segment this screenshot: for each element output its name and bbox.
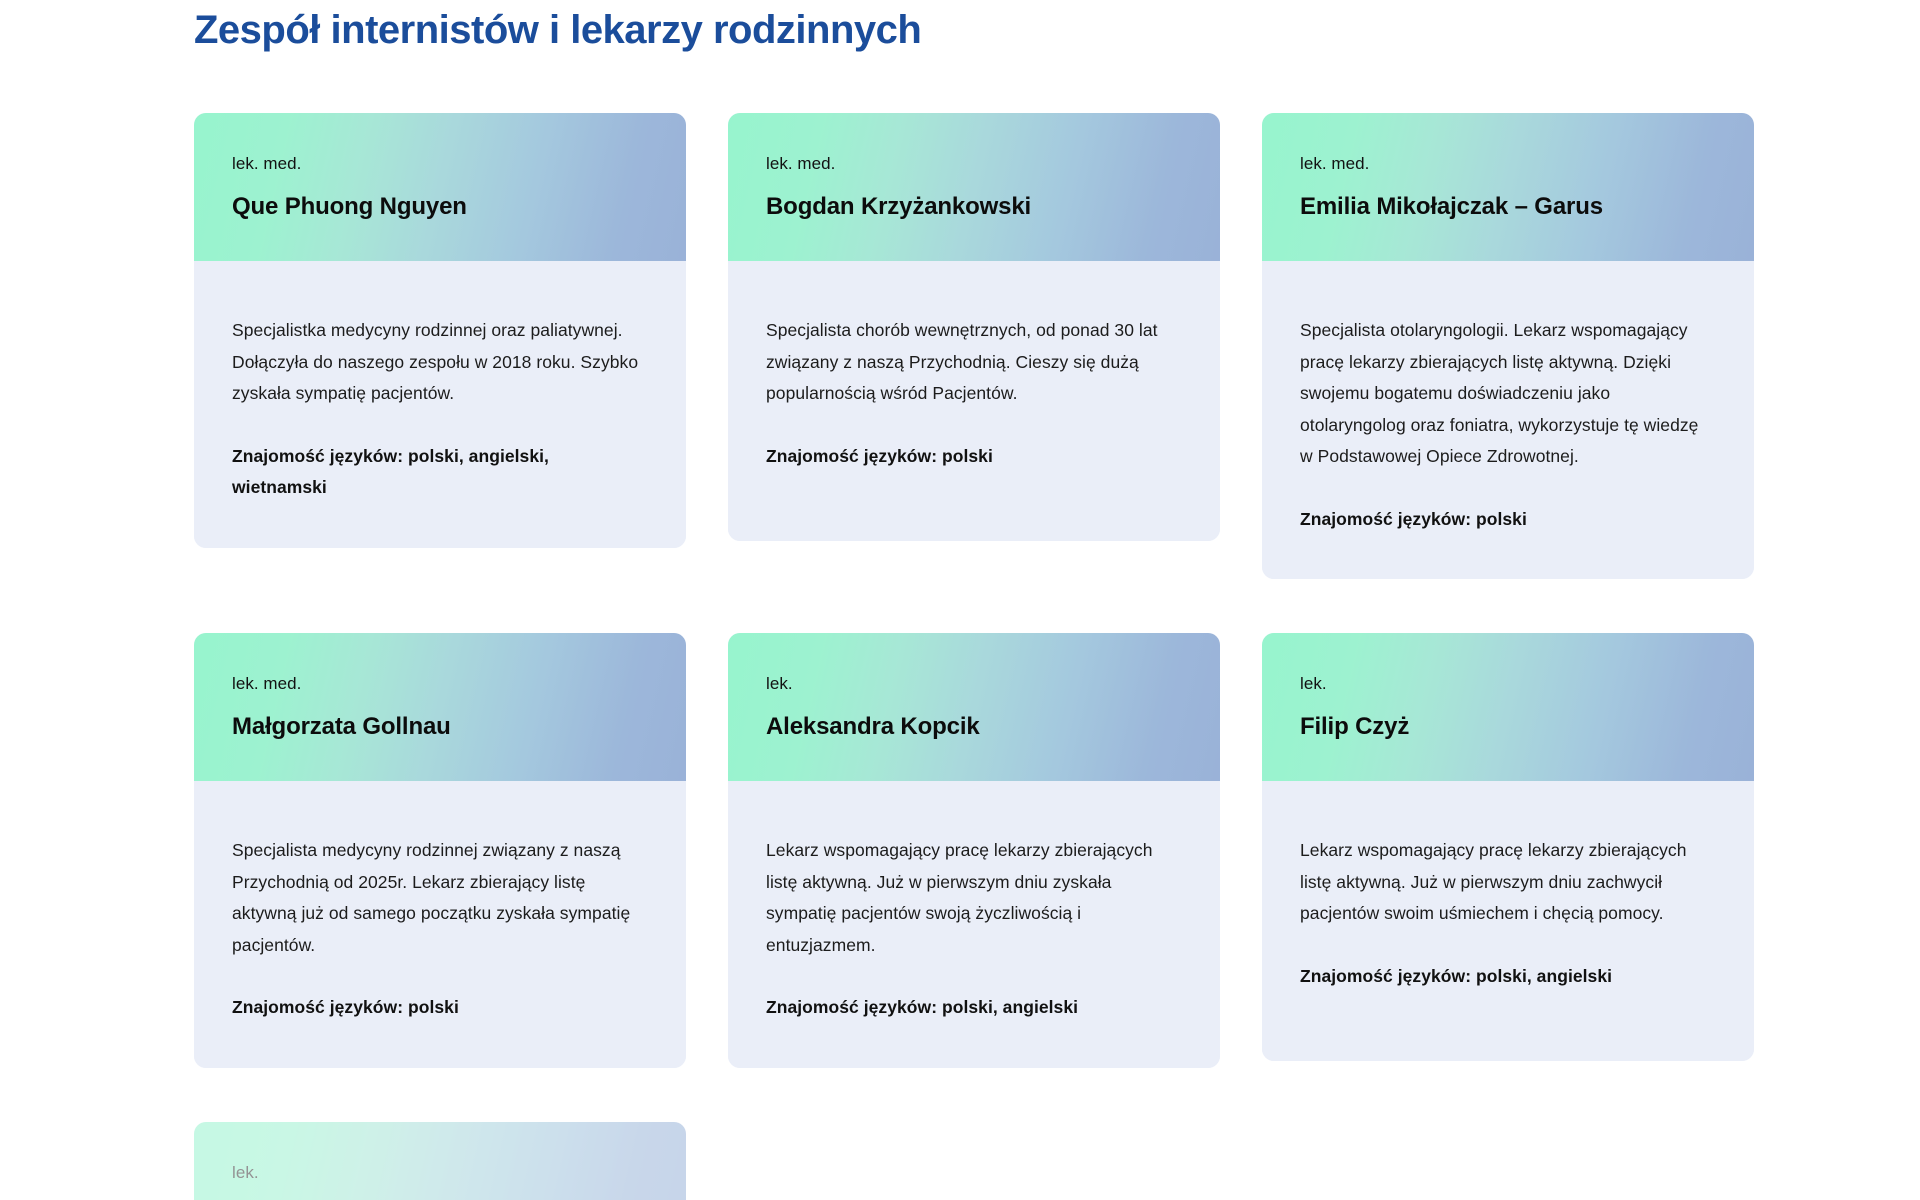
doctor-degree: lek. med. <box>1300 153 1716 175</box>
doctor-name: Bogdan Krzyżankowski <box>766 191 1182 223</box>
doctor-card-header: lek. Filip Czyż <box>1262 633 1754 781</box>
doctor-degree: lek. med. <box>232 153 648 175</box>
page-title: Zespół internistów i lekarzy rodzinnych <box>194 4 921 56</box>
doctor-card-header: lek. med. Emilia Mikołajczak – Garus <box>1262 113 1754 261</box>
doctor-bio: Lekarz wspomagający pracę lekarzy zbiera… <box>766 835 1182 961</box>
doctor-card[interactable]: lek. med. Que Phuong Nguyen Specjalistka… <box>194 113 686 548</box>
doctor-card[interactable]: lek. med. Małgorzata Gollnau Specjalista… <box>194 633 686 1068</box>
doctor-name: Małgorzata Gollnau <box>232 711 648 743</box>
doctor-name: Emilia Mikołajczak – Garus <box>1300 191 1716 223</box>
doctor-card-header: lek. med. Bogdan Krzyżankowski <box>728 113 1220 261</box>
doctor-bio: Specjalista otolaryngologii. Lekarz wspo… <box>1300 315 1716 473</box>
doctor-card[interactable]: lek. Aleksandra Kopcik Lekarz wspomagają… <box>728 633 1220 1068</box>
doctor-bio: Lekarz wspomagający pracę lekarzy zbiera… <box>1300 835 1716 930</box>
doctor-name: Filip Czyż <box>1300 711 1716 743</box>
doctor-card-body: Specjalistka medycyny rodzinnej oraz pal… <box>194 261 686 548</box>
doctor-bio: Specjalistka medycyny rodzinnej oraz pal… <box>232 315 648 410</box>
doctor-name: Que Phuong Nguyen <box>232 191 648 223</box>
doctor-card-header: lek. Aleksandra Kopcik <box>728 633 1220 781</box>
doctor-degree: lek. <box>1300 673 1716 695</box>
doctor-card[interactable]: lek. med. Emilia Mikołajczak – Garus Spe… <box>1262 113 1754 579</box>
doctor-card[interactable]: lek. Filip Czyż Lekarz wspomagający prac… <box>1262 633 1754 1061</box>
doctor-languages: Znajomość języków: polski, angielski <box>766 992 1166 1024</box>
doctor-languages: Znajomość języków: polski, angielski <box>1300 961 1700 993</box>
doctors-grid: lek. med. Que Phuong Nguyen Specjalistka… <box>194 113 1754 1200</box>
doctor-card-body: Lekarz wspomagający pracę lekarzy zbiera… <box>1262 781 1754 1061</box>
doctor-languages: Znajomość języków: polski <box>232 992 632 1024</box>
doctor-degree: lek. med. <box>766 153 1182 175</box>
doctor-card-body: Specjalista medycyny rodzinnej związany … <box>194 781 686 1068</box>
doctor-card[interactable]: lek. Marta Łupińska <box>194 1122 686 1200</box>
doctor-bio: Specjalista chorób wewnętrznych, od pona… <box>766 315 1182 410</box>
team-page: Zespół internistów i lekarzy rodzinnych … <box>0 0 1920 1200</box>
doctor-card[interactable]: lek. med. Bogdan Krzyżankowski Specjalis… <box>728 113 1220 541</box>
doctor-card-body: Specjalista chorób wewnętrznych, od pona… <box>728 261 1220 541</box>
doctor-card-header: lek. med. Que Phuong Nguyen <box>194 113 686 261</box>
doctor-card-header: lek. med. Małgorzata Gollnau <box>194 633 686 781</box>
doctor-card-body: Specjalista otolaryngologii. Lekarz wspo… <box>1262 261 1754 579</box>
doctor-degree: lek. med. <box>232 673 648 695</box>
doctor-languages: Znajomość języków: polski, angielski, wi… <box>232 441 632 504</box>
doctor-degree: lek. <box>766 673 1182 695</box>
doctor-card-header: lek. Marta Łupińska <box>194 1122 686 1200</box>
doctor-languages: Znajomość języków: polski <box>1300 504 1700 536</box>
doctor-name: Aleksandra Kopcik <box>766 711 1182 743</box>
doctor-card-body: Lekarz wspomagający pracę lekarzy zbiera… <box>728 781 1220 1068</box>
doctor-bio: Specjalista medycyny rodzinnej związany … <box>232 835 648 961</box>
doctor-languages: Znajomość języków: polski <box>766 441 1166 473</box>
doctor-degree: lek. <box>232 1162 648 1184</box>
